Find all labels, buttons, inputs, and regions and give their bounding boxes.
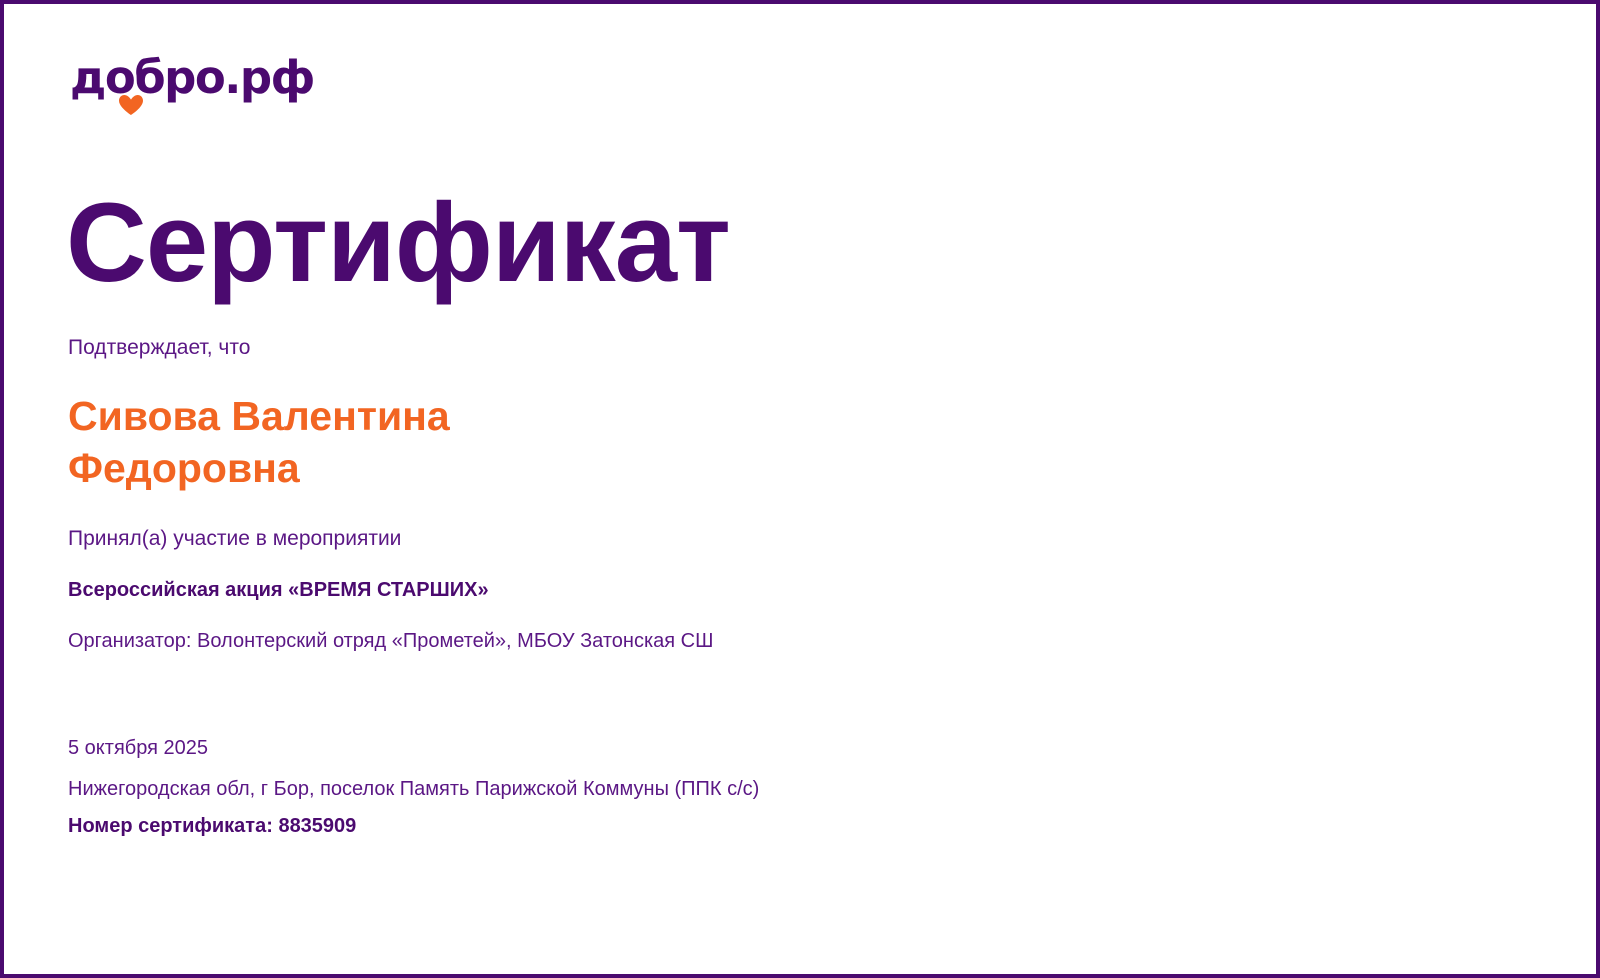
certificate-document: добро.рф Сертификат Подтверждает, что Си… xyxy=(0,0,1600,978)
organizer-text: Организатор: Волонтерский отряд «Промете… xyxy=(68,630,1596,653)
dobro-rf-logo: добро.рф xyxy=(70,50,310,114)
event-name: Всероссийская акция «ВРЕМЯ СТАРШИХ» xyxy=(68,579,1596,602)
issue-date: 5 октября 2025 xyxy=(68,737,1596,760)
logo-wordmark: добро.рф xyxy=(70,50,310,106)
certificate-content: добро.рф Сертификат Подтверждает, что Си… xyxy=(4,4,1596,974)
recipient-name: Сивова Валентина Федоровна xyxy=(68,390,628,495)
certificate-number: Номер сертификата: 8835909 xyxy=(68,815,1596,838)
participation-text: Принял(а) участие в мероприятии xyxy=(68,527,1596,551)
certificate-footer: 5 октября 2025 Нижегородская обл, г Бор,… xyxy=(68,737,1596,838)
issue-location: Нижегородская обл, г Бор, поселок Память… xyxy=(68,778,1596,801)
intro-text: Подтверждает, что xyxy=(68,336,1596,360)
page-title: Сертификат xyxy=(66,184,1596,302)
heart-icon xyxy=(118,94,144,116)
